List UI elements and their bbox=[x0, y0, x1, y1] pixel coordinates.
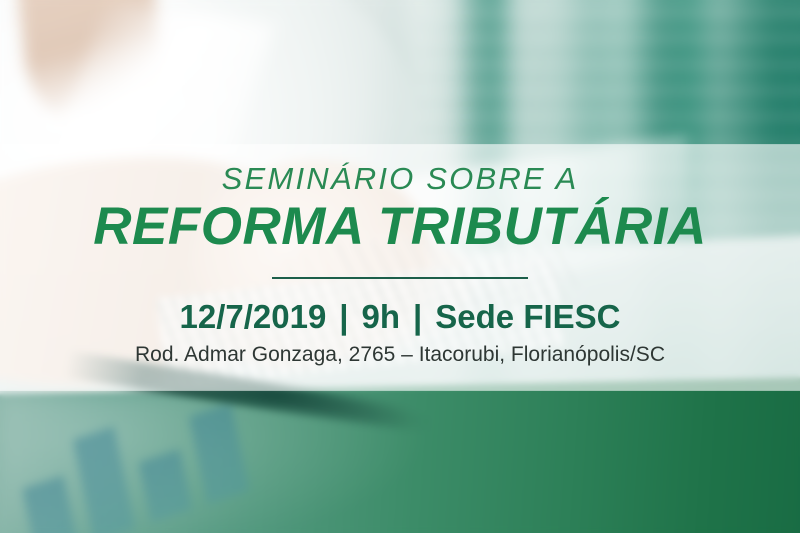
poster-content: SEMINÁRIO SOBRE A REFORMA TRIBUTÁRIA 12/… bbox=[0, 145, 800, 390]
photo-chart-bar bbox=[138, 450, 192, 523]
photo-chart-bar bbox=[22, 475, 79, 533]
event-details: 12/7/2019 | 9h | Sede FIESC bbox=[179, 299, 620, 335]
details-separator-1: | bbox=[326, 299, 361, 335]
event-time: 9h bbox=[362, 299, 401, 335]
title-divider bbox=[272, 277, 528, 279]
photo-chart-bar bbox=[189, 403, 249, 504]
photo-chart-bar bbox=[73, 427, 136, 533]
event-poster: SEMINÁRIO SOBRE A REFORMA TRIBUTÁRIA 12/… bbox=[0, 0, 800, 533]
event-kicker: SEMINÁRIO SOBRE A bbox=[222, 163, 579, 196]
event-date: 12/7/2019 bbox=[179, 299, 326, 335]
event-title: REFORMA TRIBUTÁRIA bbox=[93, 198, 707, 255]
event-venue: Sede FIESC bbox=[435, 299, 620, 335]
details-separator-2: | bbox=[400, 299, 435, 335]
event-address: Rod. Admar Gonzaga, 2765 – Itacorubi, Fl… bbox=[135, 342, 665, 367]
